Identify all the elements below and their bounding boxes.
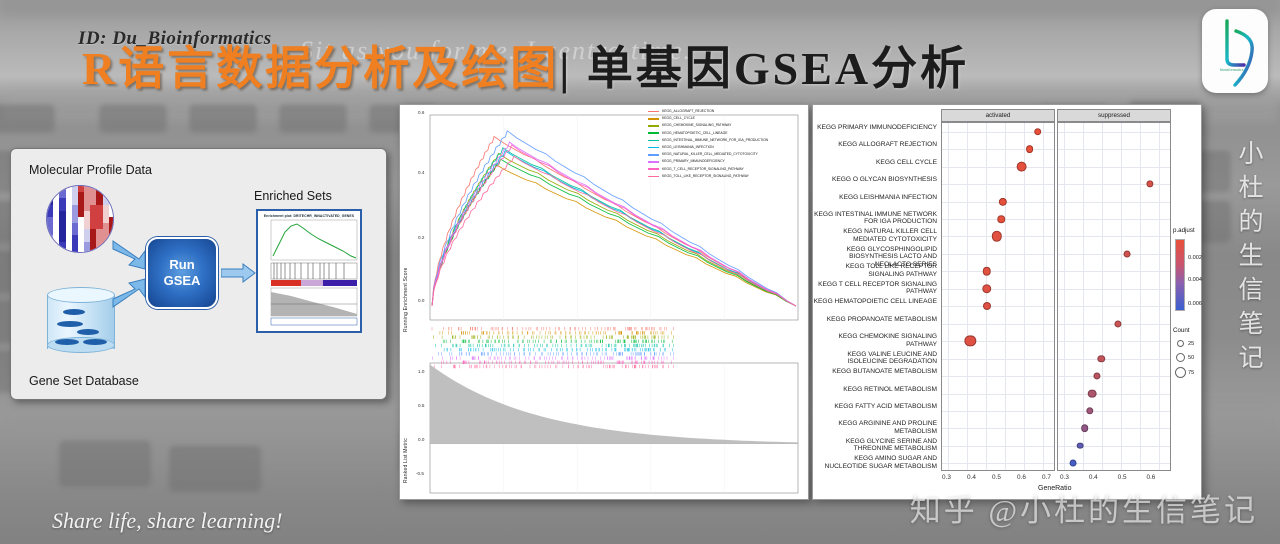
page-title-orange: R语言数据分析及绘图 bbox=[82, 43, 559, 94]
dotplot-xtick-activated: 0.4 bbox=[967, 474, 976, 481]
gridline-h bbox=[942, 324, 1054, 325]
gridline-h bbox=[1058, 167, 1170, 168]
dotplot-point[interactable] bbox=[997, 215, 1005, 223]
dotplot-xtick-activated: 0.6 bbox=[1017, 474, 1026, 481]
dotplot-category-label: KEGG O GLYCAN BIOSYNTHESIS bbox=[813, 176, 937, 183]
dotplot-category-label: KEGG T CELL RECEPTOR SIGNALING PATHWAY bbox=[813, 281, 937, 296]
dotplot-point[interactable] bbox=[992, 231, 1002, 241]
gridline-h bbox=[1058, 219, 1170, 220]
dotplot-category-label: KEGG BUTANOATE METABOLISM bbox=[813, 368, 937, 375]
gridline-v bbox=[986, 123, 987, 470]
dotplot-point[interactable] bbox=[1114, 320, 1121, 327]
dotplot-category-label: KEGG ARGININE AND PROLINE METABOLISM bbox=[813, 420, 937, 435]
dotplot-xtick-activated: 0.7 bbox=[1042, 474, 1051, 481]
legend-color-swatch bbox=[648, 147, 659, 149]
legend-color-swatch bbox=[648, 132, 659, 134]
gridline-v bbox=[948, 123, 949, 470]
gridline-v bbox=[1121, 123, 1122, 470]
gridline-v bbox=[1043, 123, 1044, 470]
expression-heatmap-icon bbox=[46, 185, 114, 253]
facet-panel-activated bbox=[941, 122, 1055, 471]
dotplot-point[interactable] bbox=[1093, 372, 1100, 379]
gridline-h bbox=[1058, 411, 1170, 412]
run-gsea-node[interactable]: Run GSEA bbox=[146, 237, 218, 309]
padjust-legend-title: p.adjust bbox=[1173, 227, 1195, 234]
gridline-h bbox=[942, 411, 1054, 412]
gridline-h bbox=[942, 359, 1054, 360]
kegg-dotplot-panel: KEGG PRIMARY IMMUNODEFICIENCYKEGG ALLOGR… bbox=[812, 104, 1202, 500]
dotplot-category-labels: KEGG PRIMARY IMMUNODEFICIENCYKEGG ALLOGR… bbox=[813, 105, 940, 471]
dotplot-category-label: KEGG PROPANOATE METABOLISM bbox=[813, 316, 937, 323]
gridline-v bbox=[967, 123, 968, 470]
dotplot-point[interactable] bbox=[1081, 425, 1089, 433]
gsea-legend-item: KEGG_PRIMARY_IMMUNODEFICIENCY bbox=[648, 158, 768, 165]
gridline-v bbox=[1102, 123, 1103, 470]
gridline-h bbox=[1058, 428, 1170, 429]
dotplot-category-label: KEGG CHEMOKINE SIGNALING PATHWAY bbox=[813, 333, 937, 348]
gridline-h bbox=[942, 341, 1054, 342]
legend-color-swatch bbox=[648, 125, 659, 127]
count-legend-label-75: 75 bbox=[1188, 370, 1194, 376]
gridline-h bbox=[1058, 306, 1170, 307]
padjust-colorbar bbox=[1175, 239, 1185, 311]
dotplot-category-label: KEGG PRIMARY IMMUNODEFICIENCY bbox=[813, 124, 937, 131]
legend-color-swatch bbox=[648, 168, 659, 170]
gridline-h bbox=[1058, 446, 1170, 447]
svg-text:bioinformatics: bioinformatics bbox=[1220, 67, 1244, 72]
enriched-sets-label: Enriched Sets bbox=[254, 189, 332, 203]
gsea-legend-item: KEGG_TOLL_LIKE_RECEPTOR_SIGNALING_PATHWA… bbox=[648, 173, 768, 180]
dotplot-category-label: KEGG VALINE LEUCINE AND ISOLEUCINE DEGRA… bbox=[813, 351, 937, 366]
enrichment-plot-mini bbox=[261, 218, 359, 326]
legend-label: KEGG_CELL_CYCLE bbox=[662, 115, 695, 122]
dotplot-category-label: KEGG RETINOL METABOLISM bbox=[813, 386, 937, 393]
facet-header-suppressed: suppressed bbox=[1057, 109, 1171, 122]
gsea-legend-item: KEGG_CELL_CYCLE bbox=[648, 115, 768, 122]
dotplot-point[interactable] bbox=[1026, 145, 1034, 153]
dotplot-xtick-activated: 0.5 bbox=[992, 474, 1001, 481]
gene-set-database-label: Gene Set Database bbox=[29, 374, 139, 388]
molecular-profile-label: Molecular Profile Data bbox=[29, 163, 152, 177]
gridline-h bbox=[1058, 376, 1170, 377]
gridline-h bbox=[1058, 341, 1170, 342]
padjust-tick-2: 0.006 bbox=[1188, 301, 1202, 307]
arrow-gsea-to-results bbox=[221, 263, 257, 283]
dotplot-category-label: KEGG INTESTINAL IMMUNE NETWORK FOR IGA P… bbox=[813, 211, 937, 226]
gridline-h bbox=[942, 428, 1054, 429]
dotplot-category-label: KEGG HEMATOPOIETIC CELL LINEAGE bbox=[813, 298, 937, 305]
gridline-h bbox=[942, 376, 1054, 377]
legend-label: KEGG_NATURAL_KILLER_CELL_MEDIATED_CYTOTO… bbox=[662, 151, 758, 158]
dotplot-category-label: KEGG GLYCINE SERINE AND THREONINE METABO… bbox=[813, 438, 937, 453]
ld-monogram-icon: bioinformatics bbox=[1202, 9, 1268, 93]
page-title-dark: | 单基因GSEA分析 bbox=[559, 43, 969, 94]
page-title: R语言数据分析及绘图| 单基因GSEA分析 bbox=[82, 32, 969, 98]
legend-label: KEGG_T_CELL_RECEPTOR_SIGNALING_PATHWAY bbox=[662, 166, 744, 173]
dotplot-point[interactable] bbox=[983, 267, 992, 276]
dotplot-point[interactable] bbox=[1146, 181, 1153, 188]
dotplot-point[interactable] bbox=[983, 302, 991, 310]
count-legend-circle-25 bbox=[1177, 340, 1184, 347]
gridline-v bbox=[1083, 123, 1084, 470]
gridline-h bbox=[1058, 132, 1170, 133]
facet-panel-suppressed bbox=[1057, 122, 1171, 471]
gridline-h bbox=[942, 254, 1054, 255]
dotplot-xtick-suppressed: 0.5 bbox=[1118, 474, 1127, 481]
dotplot-category-label: KEGG AMINO SUGAR AND NUCLEOTIDE SUGAR ME… bbox=[813, 455, 937, 470]
legend-label: KEGG_ALLOGRAFT_REJECTION bbox=[662, 108, 714, 115]
legend-color-swatch bbox=[648, 154, 659, 156]
gsea-legend-item: KEGG_NATURAL_KILLER_CELL_MEDIATED_CYTOTO… bbox=[648, 151, 768, 158]
legend-label: KEGG_CHEMOKINE_SIGNALING_PATHWAY bbox=[662, 122, 731, 129]
legend-label: KEGG_INTESTINAL_IMMUNE_NETWORK_FOR_IGA_P… bbox=[662, 137, 768, 144]
gridline-v bbox=[1064, 123, 1065, 470]
facet-header-activated: activated bbox=[941, 109, 1055, 122]
dotplot-xtick-suppressed: 0.6 bbox=[1146, 474, 1155, 481]
gsea-legend-item: KEGG_ALLOGRAFT_REJECTION bbox=[648, 108, 768, 115]
legend-label: KEGG_TOLL_LIKE_RECEPTOR_SIGNALING_PATHWA… bbox=[662, 173, 749, 180]
share-tagline: Share life, share learning! bbox=[52, 508, 283, 534]
legend-color-swatch bbox=[648, 111, 659, 113]
legend-label: KEGG_HEMATOPOIETIC_CELL_LINEAGE bbox=[662, 130, 727, 137]
gridline-h bbox=[942, 149, 1054, 150]
dotplot-category-label: KEGG CELL CYCLE bbox=[813, 159, 937, 166]
legend-label: KEGG_PRIMARY_IMMUNODEFICIENCY bbox=[662, 158, 725, 165]
dotplot-category-label: KEGG LEISHMANIA INFECTION bbox=[813, 194, 937, 201]
gridline-h bbox=[1058, 271, 1170, 272]
dotplot-category-label: KEGG FATTY ACID METABOLISM bbox=[813, 403, 937, 410]
dotplot-category-label: KEGG TOLL LIKE RECEPTOR SIGNALING PATHWA… bbox=[813, 263, 937, 278]
gsea-legend-item: KEGG_CHEMOKINE_SIGNALING_PATHWAY bbox=[648, 122, 768, 129]
gridline-v bbox=[1159, 123, 1160, 470]
dotplot-point[interactable] bbox=[1086, 407, 1093, 414]
gridline-h bbox=[1058, 254, 1170, 255]
gridline-v bbox=[1140, 123, 1141, 470]
dotplot-category-label: KEGG ALLOGRAFT REJECTION bbox=[813, 141, 937, 148]
gridline-v bbox=[1005, 123, 1006, 470]
gridline-h bbox=[1058, 202, 1170, 203]
dotplot-point[interactable] bbox=[965, 335, 976, 346]
gridline-h bbox=[1058, 289, 1170, 290]
gridline-h bbox=[942, 167, 1054, 168]
legend-color-swatch bbox=[648, 176, 659, 178]
run-gsea-line1: Run bbox=[169, 257, 194, 273]
sidebar-vertical-text: 小杜的生信笔记 bbox=[1232, 140, 1266, 378]
gsea-legend-item: KEGG_LEISHMANIA_INFECTION bbox=[648, 144, 768, 151]
legend-label: KEGG_LEISHMANIA_INFECTION bbox=[662, 144, 714, 151]
gridline-h bbox=[942, 271, 1054, 272]
gsea-legend-item: KEGG_HEMATOPOIETIC_CELL_LINEAGE bbox=[648, 130, 768, 137]
count-legend-label-50: 50 bbox=[1188, 355, 1194, 361]
gridline-h bbox=[942, 289, 1054, 290]
gridline-h bbox=[1058, 359, 1170, 360]
legend-color-swatch bbox=[648, 118, 659, 120]
dotplot-xtick-suppressed: 0.3 bbox=[1060, 474, 1069, 481]
dotplot-point[interactable] bbox=[1016, 161, 1027, 172]
database-cylinder-icon bbox=[47, 287, 115, 353]
gsea-running-score-plot: Running Enrichment Score Ranked List Met… bbox=[399, 104, 809, 500]
gridline-h bbox=[942, 184, 1054, 185]
dotplot-point[interactable] bbox=[1088, 389, 1097, 398]
gsea-legend-item: KEGG_T_CELL_RECEPTOR_SIGNALING_PATHWAY bbox=[648, 166, 768, 173]
legend-color-swatch bbox=[648, 161, 659, 163]
dotplot-point[interactable] bbox=[982, 284, 992, 294]
count-legend-title: Count bbox=[1173, 327, 1190, 334]
count-legend-label-25: 25 bbox=[1188, 341, 1194, 347]
legend-color-swatch bbox=[648, 140, 659, 142]
gridline-h bbox=[942, 463, 1054, 464]
gridline-h bbox=[1058, 149, 1170, 150]
gridline-h bbox=[942, 394, 1054, 395]
count-legend-circle-75 bbox=[1175, 367, 1186, 378]
dotplot-point[interactable] bbox=[1070, 460, 1077, 467]
dotplot-point[interactable] bbox=[1123, 250, 1130, 257]
dotplot-category-label: KEGG NATURAL KILLER CELL MEDIATED CYTOTO… bbox=[813, 228, 937, 243]
gsea-workflow-panel: Molecular Profile Data Gene Set Database… bbox=[10, 148, 387, 400]
gsea-legend: KEGG_ALLOGRAFT_REJECTIONKEGG_CELL_CYCLEK… bbox=[648, 108, 768, 180]
enrichment-plot-thumbnail: Enrichment plot: DRITECHR_INNACTIVATED_G… bbox=[256, 209, 362, 333]
gridline-h bbox=[1058, 394, 1170, 395]
padjust-tick-0: 0.002 bbox=[1188, 255, 1202, 261]
dotplot-xtick-activated: 0.3 bbox=[942, 474, 951, 481]
gridline-v bbox=[1024, 123, 1025, 470]
brand-logo: bioinformatics bbox=[1202, 9, 1268, 93]
padjust-tick-1: 0.004 bbox=[1188, 277, 1202, 283]
gsea-legend-item: KEGG_INTESTINAL_IMMUNE_NETWORK_FOR_IGA_P… bbox=[648, 137, 768, 144]
dotplot-xtick-suppressed: 0.4 bbox=[1089, 474, 1098, 481]
gridline-h bbox=[1058, 236, 1170, 237]
gridline-h bbox=[942, 446, 1054, 447]
count-legend-circle-50 bbox=[1176, 353, 1185, 362]
run-gsea-line2: GSEA bbox=[164, 273, 201, 289]
zhihu-watermark: 知乎 @小杜的生信笔记 bbox=[910, 485, 1258, 530]
gridline-h bbox=[942, 306, 1054, 307]
dotplot-point[interactable] bbox=[1034, 128, 1042, 136]
dotplot-point[interactable] bbox=[1077, 442, 1084, 449]
dotplot-point[interactable] bbox=[1097, 355, 1104, 362]
